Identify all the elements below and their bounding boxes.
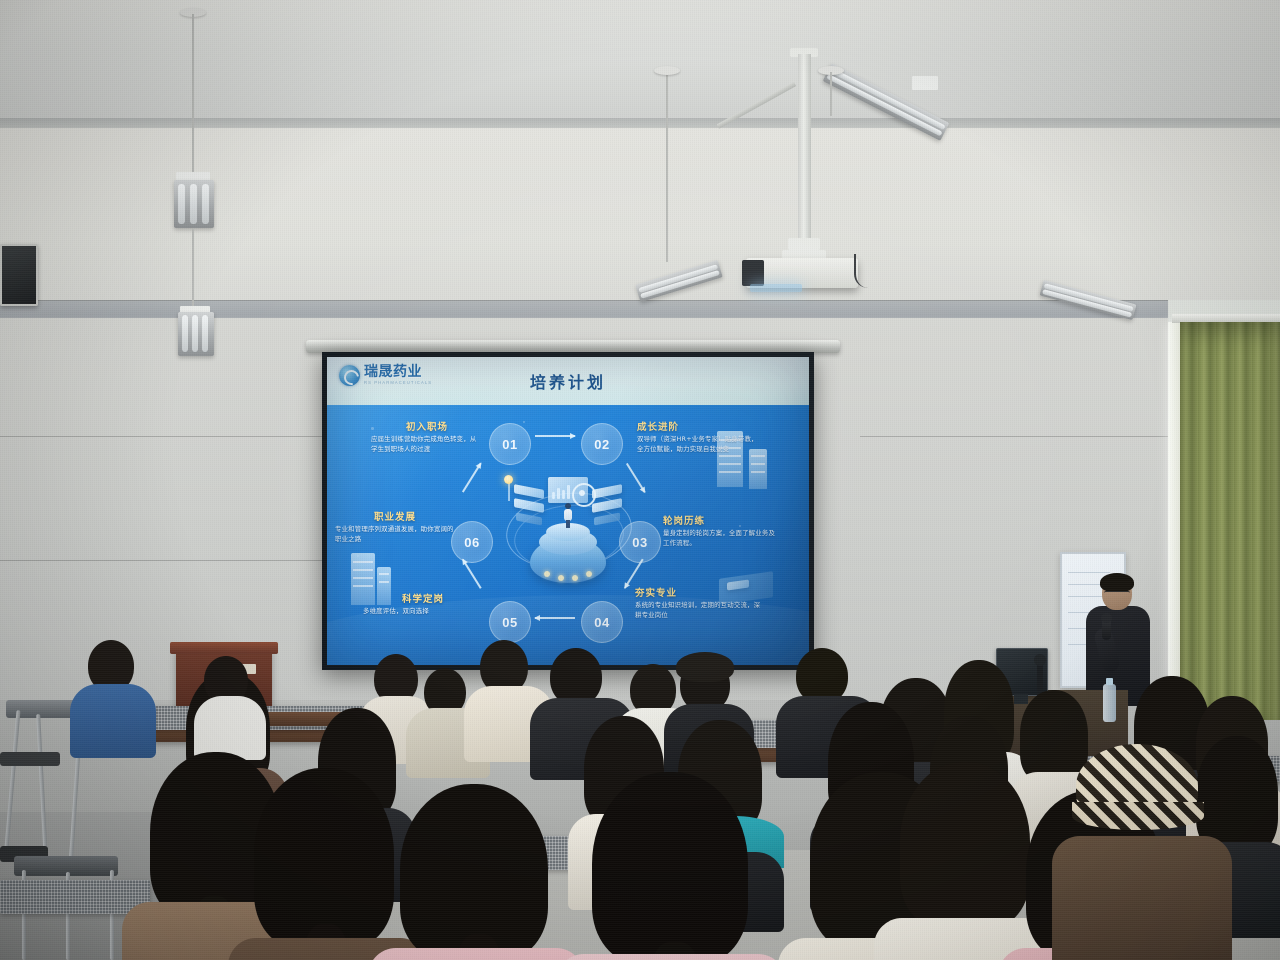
projector-beam-glow	[750, 284, 802, 292]
presenter	[1082, 576, 1154, 706]
projector-lens	[742, 260, 764, 286]
water-bottle	[1103, 684, 1116, 722]
section-heading-03: 轮岗历练	[663, 513, 781, 527]
section-heading-02: 成长进阶	[637, 419, 763, 433]
section-body-06: 专业和管理序列双通道发展，助你宽阔的职业之路	[335, 525, 455, 545]
section-heading-01: 初入职场	[371, 419, 483, 433]
wall-seam	[0, 436, 330, 437]
hub-panel	[514, 484, 544, 499]
projector-mount-head	[788, 238, 820, 250]
classroom-photo-scene: 瑞晟药业 RS PHARMACEUTICALS 培养计划	[0, 0, 1280, 960]
section-body-04: 系统的专业知识培训，定期的互动交流，深耕专业岗位	[635, 601, 765, 621]
step-circle-02: 02	[581, 423, 623, 465]
step-circle-01: 01	[489, 423, 531, 465]
hub-target-icon	[572, 483, 596, 507]
window-curtain	[1180, 322, 1280, 720]
arrow-01-to-02	[535, 435, 575, 437]
presenter-glasses	[1104, 591, 1130, 598]
section-block-01: 初入职场 应届生训练营助你完成角色转变，从学生到职场人的过渡	[371, 419, 483, 455]
section-heading-05: 科学定岗	[363, 591, 483, 605]
arrow-05-to-06	[462, 559, 481, 589]
pendant-light-left	[174, 180, 214, 228]
desk-mesh-panel-front-left	[0, 880, 150, 914]
gooseneck-microphone	[1037, 662, 1043, 696]
hub-person-figure	[564, 503, 572, 527]
wall-seam	[0, 560, 330, 561]
pendant-rod	[666, 72, 668, 262]
section-block-06: 职业发展 专业和管理序列双通道发展，助你宽阔的职业之路	[335, 509, 455, 545]
hub-podium-light	[558, 575, 564, 581]
step-circle-03: 03	[619, 521, 661, 563]
slide-body: 01 02 03 04 05 06 初入职场 应届	[327, 405, 809, 665]
decor-dot	[523, 421, 525, 423]
fixture-mount	[912, 76, 938, 90]
hub-podium-light	[586, 571, 592, 577]
window-light-gap	[1168, 322, 1180, 720]
decor-building-right-2	[749, 449, 767, 489]
pendant-mount	[654, 66, 680, 75]
ceiling-hook-chain	[830, 72, 832, 116]
section-block-04: 夯实专业 系统的专业知识培训，定期的互动交流，深耕专业岗位	[635, 585, 765, 621]
screen-surface: 瑞晟药业 RS PHARMACEUTICALS 培养计划	[327, 357, 809, 665]
monitor-stand	[1014, 694, 1028, 704]
pendant-rod	[192, 14, 194, 174]
hub-panel	[592, 484, 622, 499]
section-block-02: 成长进阶 双导师（资深HR+业务专家）贴身带教，全方位赋能，助力实现自我蜕变	[637, 419, 763, 455]
section-body-01: 应届生训练营助你完成角色转变，从学生到职场人的过渡	[371, 435, 483, 455]
section-block-05: 科学定岗 多维度评估，双向选择	[363, 591, 483, 617]
projection-screen: 瑞晟药业 RS PHARMACEUTICALS 培养计划	[322, 352, 814, 670]
projector-cable	[854, 254, 882, 288]
hub-podium-light	[572, 575, 578, 581]
presenter-hair	[1100, 573, 1134, 592]
lectern-top	[170, 642, 278, 654]
step-circle-04: 04	[581, 601, 623, 643]
microphone-head	[1101, 613, 1112, 623]
wall-speaker-left	[0, 244, 38, 306]
hub-lamp-stem	[508, 483, 510, 501]
step-circle-05: 05	[489, 601, 531, 643]
hub-bar-chart	[552, 483, 570, 499]
section-heading-06: 职业发展	[335, 509, 455, 523]
section-heading-04: 夯实专业	[635, 585, 765, 599]
projector-pole	[798, 54, 811, 246]
step-circle-06: 06	[451, 521, 493, 563]
slide-canvas: 瑞晟药业 RS PHARMACEUTICALS 培养计划	[327, 357, 809, 665]
hub-podium-light	[544, 571, 550, 577]
pendant-rod	[192, 228, 194, 306]
arrow-04-to-05	[535, 617, 575, 619]
arrow-06-to-01	[462, 463, 481, 493]
section-body-02: 双导师（资深HR+业务专家）贴身带教，全方位赋能，助力实现自我蜕变	[637, 435, 763, 455]
section-body-05: 多维度评估，双向选择	[363, 607, 483, 617]
section-body-03: 量身定制的轮岗方案，全面了解业务及工作流程。	[663, 529, 781, 549]
slide-title: 培养计划	[327, 369, 809, 393]
section-block-03: 轮岗历练 量身定制的轮岗方案，全面了解业务及工作流程。	[663, 513, 781, 549]
hub-lamp-icon	[504, 475, 513, 484]
pendant-light-left-lower	[178, 312, 214, 356]
